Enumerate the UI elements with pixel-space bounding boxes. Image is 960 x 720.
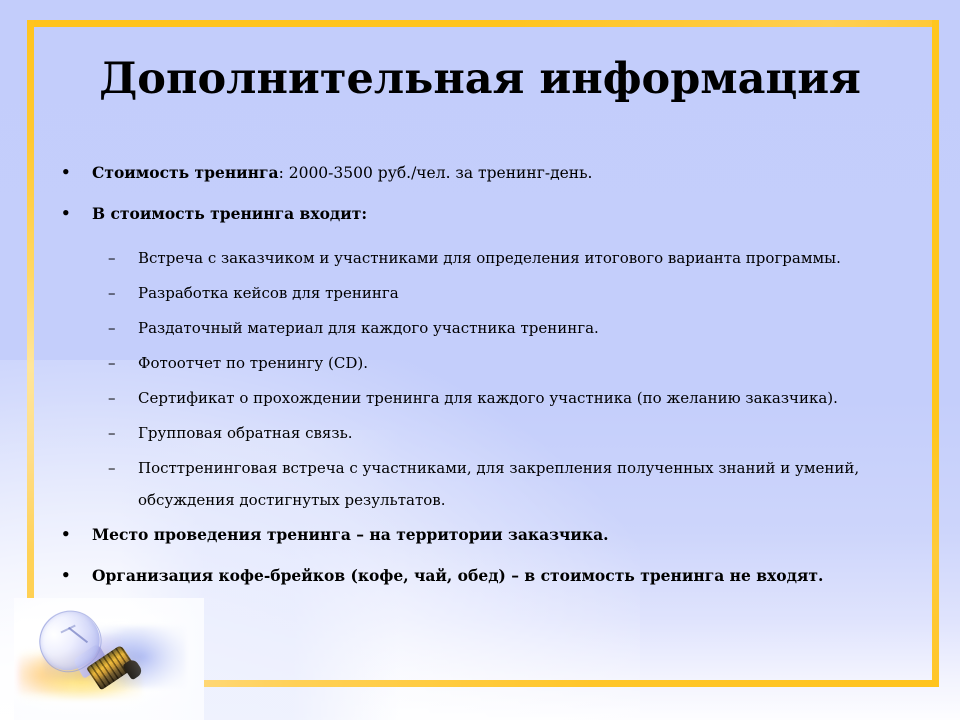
list-item: • В стоимость тренинга входит: (0, 204, 960, 240)
subbullet-marker: – (108, 277, 116, 309)
list-item-label: Разработка кейсов для тренинга (138, 284, 399, 302)
list-item: – Групповая обратная связь. (0, 417, 960, 452)
content-list: • Стоимость тренинга: 2000-3500 руб./чел… (0, 163, 960, 602)
list-item-label: Раздаточный материал для каждого участни… (138, 319, 599, 337)
subbullet-marker: – (108, 417, 116, 449)
list-item: – Сертификат о прохождении тренинга для … (0, 382, 960, 417)
list-item: – Фотоотчет по тренингу (CD). (0, 347, 960, 382)
subbullet-marker: – (108, 347, 116, 379)
list-item-label: Фотоотчет по тренингу (CD). (138, 354, 368, 372)
subbullet-marker: – (108, 312, 116, 344)
list-item-label: Групповая обратная связь. (138, 424, 353, 442)
list-item-label: Сертификат о прохождении тренинга для ка… (138, 389, 838, 407)
frame-border-top (27, 20, 939, 27)
list-item: – Разработка кейсов для тренинга (0, 277, 960, 312)
light-bulb-photo (14, 598, 204, 720)
list-item-lead: В стоимость тренинга входит: (92, 204, 367, 223)
list-item-rest: : 2000-3500 руб./чел. за тренинг-день. (279, 164, 593, 182)
list-item: • Организация кофе-брейков (кофе, чай, о… (0, 566, 960, 602)
bullet-marker: • (61, 204, 71, 223)
list-item: – Встреча с заказчиком и участниками для… (0, 242, 960, 277)
slide: Дополнительная информация • Стоимость тр… (0, 0, 960, 720)
subbullet-marker: – (108, 382, 116, 414)
bullet-marker: • (61, 163, 71, 182)
list-item: • Место проведения тренинга – на террито… (0, 525, 960, 561)
photo-edge-fade (14, 598, 204, 720)
subbullet-marker: – (108, 242, 116, 274)
list-item: – Раздаточный материал для каждого участ… (0, 312, 960, 347)
list-item: • Стоимость тренинга: 2000-3500 руб./чел… (0, 163, 960, 199)
subbullet-marker: – (108, 452, 116, 484)
list-item-label: Встреча с заказчиком и участниками для о… (138, 249, 841, 267)
list-item-lead: Место проведения тренинга – на территори… (92, 525, 609, 544)
bullet-marker: • (61, 566, 71, 585)
bullet-marker: • (61, 525, 71, 544)
slide-title: Дополнительная информация (0, 58, 960, 101)
list-item-lead: Организация кофе-брейков (кофе, чай, обе… (92, 566, 823, 585)
list-item: – Посттренинговая встреча с участниками,… (0, 452, 960, 518)
list-item-lead: Стоимость тренинга (92, 163, 279, 182)
list-item-label: Посттренинговая встреча с участниками, д… (138, 459, 859, 509)
